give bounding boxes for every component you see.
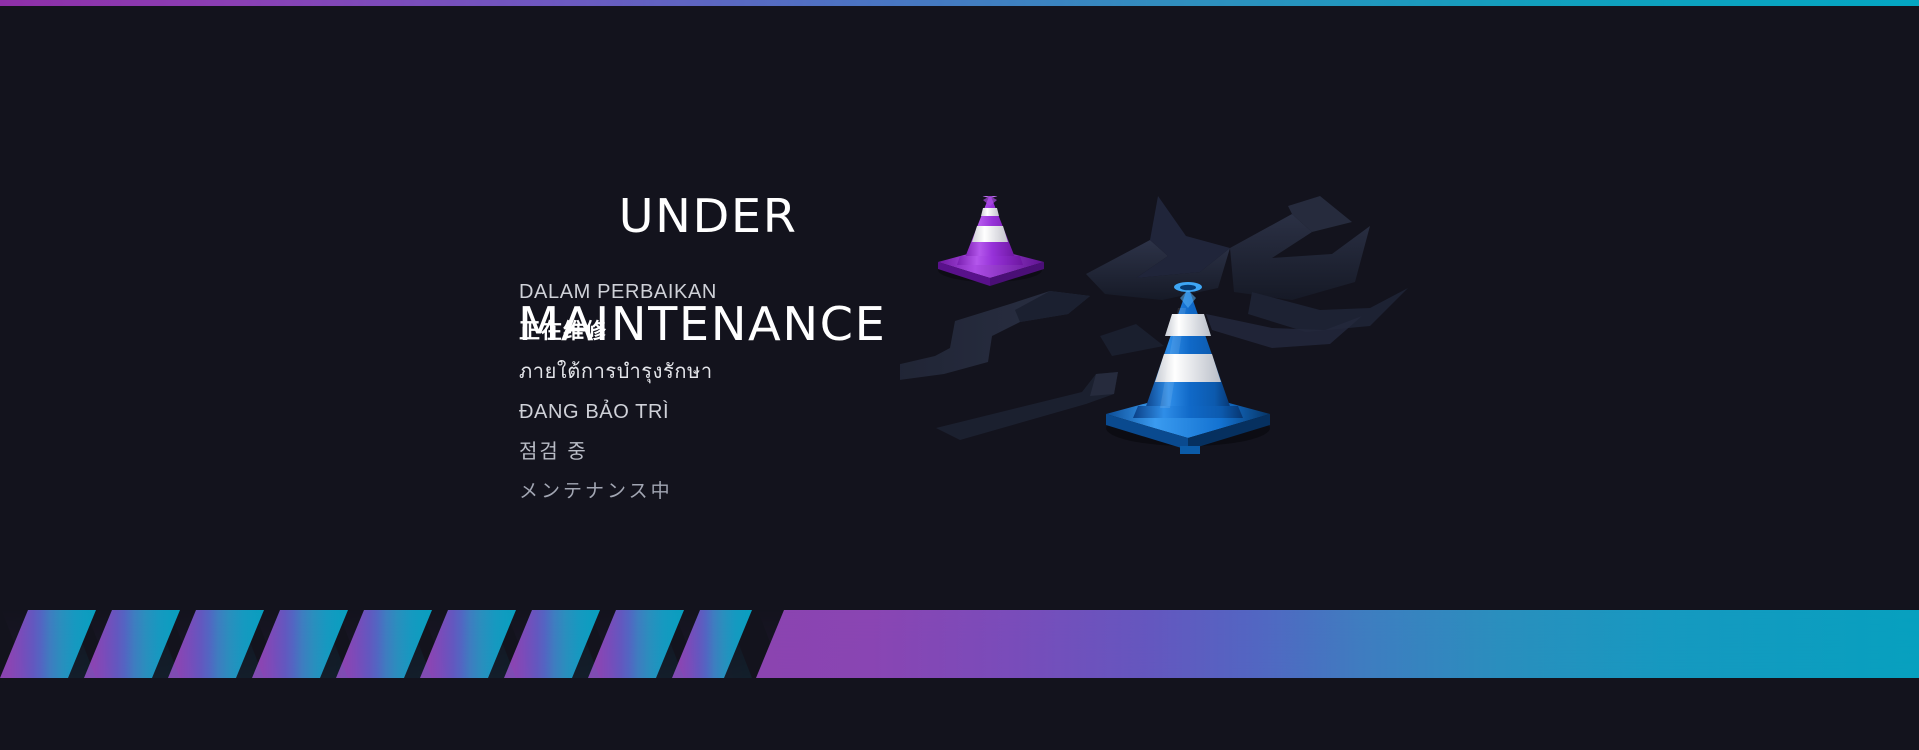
translation-chinese: 正在维修	[519, 312, 717, 352]
blue-traffic-cone-icon	[1106, 282, 1270, 454]
translation-indonesian: DALAM PERBAIKAN	[519, 272, 717, 312]
page-title-line-1: UNDER	[619, 189, 798, 243]
maintenance-page: UNDER MAINTENANCE DALAM PERBAIKAN 正在维修 ภ…	[0, 0, 1919, 750]
translation-vietnamese: ĐANG BẢO TRÌ	[519, 392, 717, 432]
translation-korean: 점검 중	[519, 432, 717, 472]
hazard-band-reflection	[0, 608, 1919, 678]
translation-japanese: メンテナンス中	[519, 472, 717, 512]
main-stage: UNDER MAINTENANCE DALAM PERBAIKAN 正在维修 ภ…	[0, 6, 1919, 610]
hazard-band-area: please come back later…	[0, 608, 1919, 750]
translations-list: DALAM PERBAIKAN 正在维修 ภายใต้การบำรุงรักษา…	[519, 272, 717, 512]
maintenance-illustration	[900, 196, 1520, 526]
translation-thai: ภายใต้การบำรุงรักษา	[519, 352, 717, 392]
purple-traffic-cone-icon	[938, 196, 1044, 286]
